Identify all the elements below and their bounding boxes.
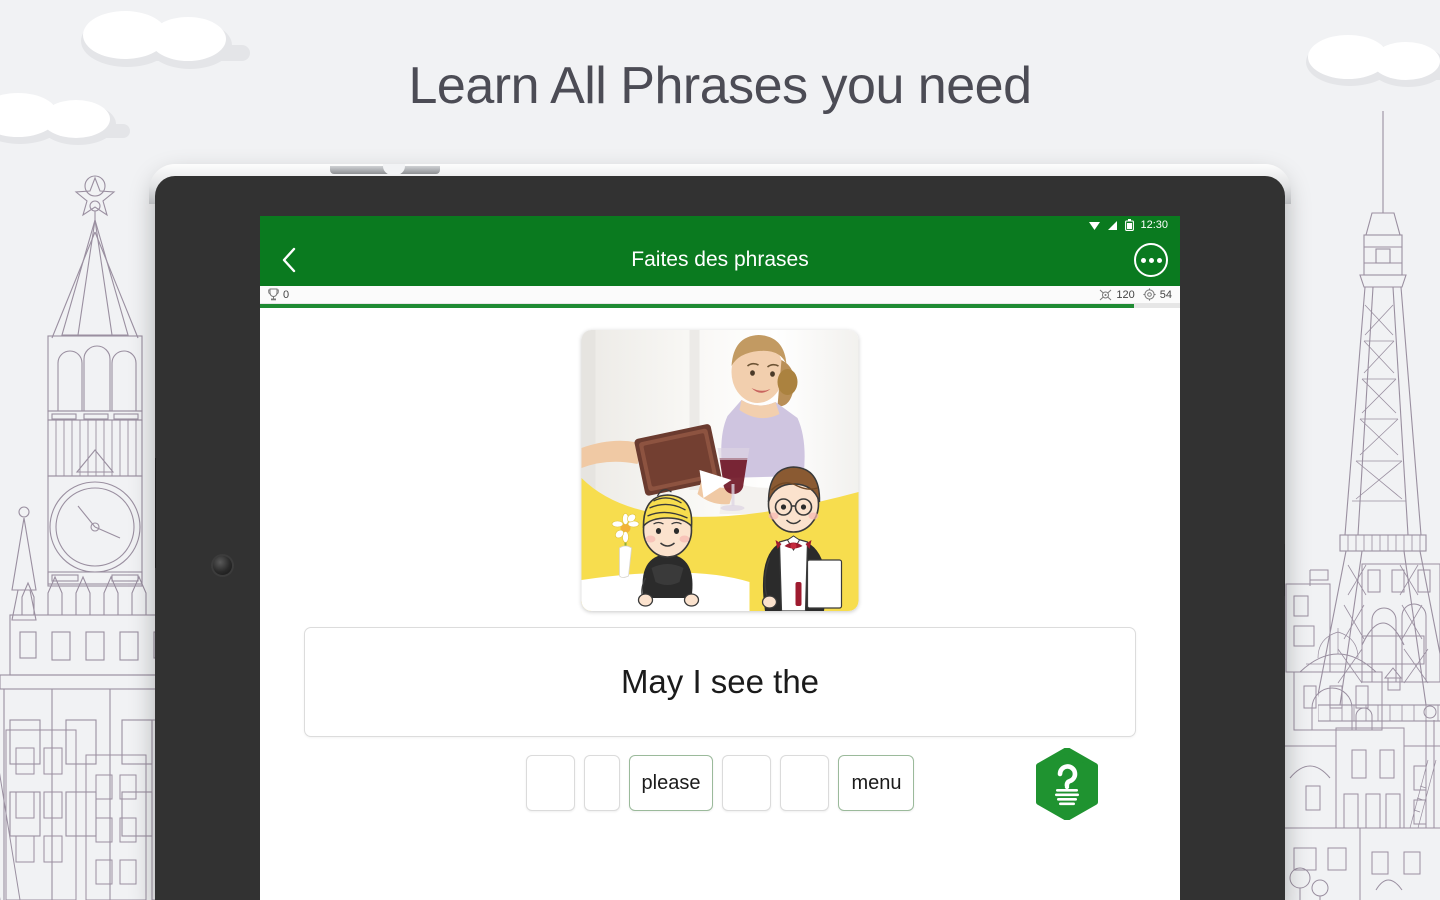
word-tile-blank[interactable] bbox=[722, 755, 771, 811]
gear-icon bbox=[1143, 288, 1156, 301]
volume-button[interactable] bbox=[155, 458, 156, 568]
scene-illustration bbox=[582, 330, 859, 611]
trophy-icon bbox=[268, 288, 279, 301]
more-options-button[interactable] bbox=[1134, 243, 1168, 277]
tablet-device: 12:30 Faites des phrases bbox=[155, 170, 1285, 900]
word-tile-blank[interactable] bbox=[526, 755, 575, 811]
back-button[interactable] bbox=[266, 237, 312, 283]
hint-button[interactable] bbox=[1031, 748, 1103, 820]
counters-group: 120 54 bbox=[1099, 288, 1172, 301]
target-value: 120 bbox=[1116, 289, 1134, 301]
score-value: 0 bbox=[283, 289, 289, 301]
tablet-screen: 12:30 Faites des phrases bbox=[260, 216, 1180, 900]
app-bar: Faites des phrases bbox=[260, 234, 1180, 286]
wifi-icon bbox=[1088, 220, 1101, 231]
hint-question-icon bbox=[1031, 748, 1103, 820]
word-tile-blank[interactable] bbox=[780, 755, 829, 811]
word-tile-blank[interactable] bbox=[584, 755, 620, 811]
more-dot bbox=[1157, 258, 1162, 263]
answer-sentence-box[interactable]: May I see the bbox=[304, 627, 1136, 737]
status-bar-time: 12:30 bbox=[1140, 219, 1168, 231]
gear-value: 54 bbox=[1160, 289, 1172, 301]
word-tile-menu[interactable]: menu bbox=[838, 755, 914, 811]
stats-bar: 0 120 bbox=[260, 286, 1180, 304]
battery-icon bbox=[1125, 219, 1134, 231]
power-button[interactable] bbox=[1284, 544, 1285, 596]
target-icon bbox=[1099, 289, 1112, 301]
page-headline: Learn All Phrases you need bbox=[0, 56, 1440, 116]
more-dot bbox=[1141, 258, 1146, 263]
word-tile-please[interactable]: please bbox=[629, 755, 714, 811]
android-status-bar: 12:30 bbox=[260, 216, 1180, 234]
answer-sentence-text: May I see the bbox=[621, 663, 819, 701]
tablet-body: 12:30 Faites des phrases bbox=[155, 176, 1285, 900]
exercise-content: May I see the please menu bbox=[260, 308, 1180, 900]
cityscape-illustration-right bbox=[1280, 560, 1440, 900]
front-camera-icon bbox=[213, 556, 232, 575]
signal-icon bbox=[1107, 220, 1119, 231]
score-group: 0 bbox=[268, 288, 289, 301]
more-dot bbox=[1149, 258, 1154, 263]
chevron-left-icon bbox=[281, 247, 297, 273]
app-bar-title: Faites des phrases bbox=[260, 248, 1180, 272]
